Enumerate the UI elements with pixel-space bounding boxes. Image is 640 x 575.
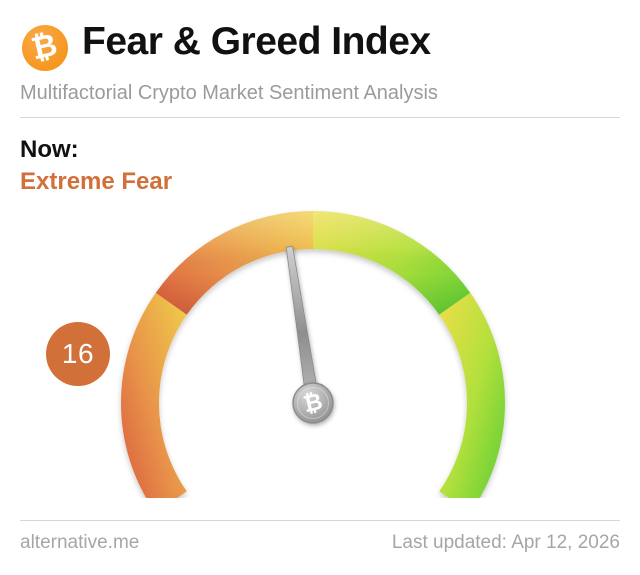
header-divider: [20, 117, 620, 118]
gauge-svg: ₿: [110, 198, 520, 498]
fear-greed-index-widget: ₿ Fear & Greed Index Multifactorial Cryp…: [0, 0, 640, 575]
gauge-hub: ₿: [293, 383, 333, 423]
index-value-number: 16: [62, 340, 94, 368]
footer-divider: [20, 520, 620, 521]
source-label: alternative.me: [20, 532, 139, 554]
index-value-badge: 16: [46, 322, 110, 386]
page-subtitle: Multifactorial Crypto Market Sentiment A…: [20, 82, 438, 105]
status-badge: Extreme Fear: [20, 168, 172, 196]
gauge-chart: ₿: [110, 198, 520, 498]
gauge-needle: [286, 246, 319, 404]
now-label: Now:: [20, 136, 79, 164]
page-title: Fear & Greed Index: [82, 20, 431, 64]
bitcoin-icon: ₿: [22, 25, 68, 71]
bitcoin-glyph: ₿: [29, 29, 61, 65]
last-updated-label: Last updated: Apr 12, 2026: [392, 532, 620, 554]
